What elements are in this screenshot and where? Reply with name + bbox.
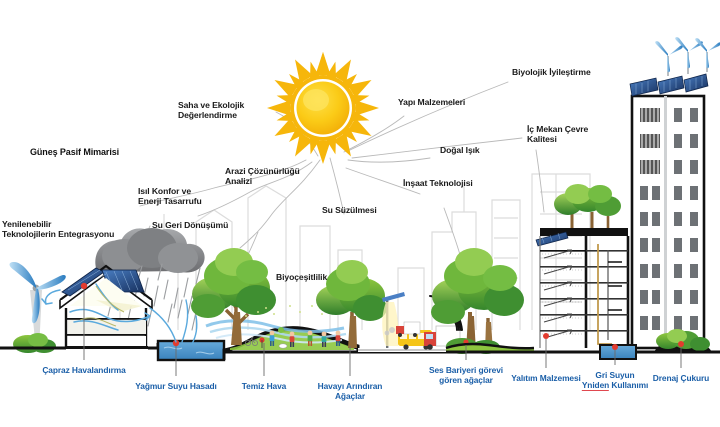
tower-louvre-windows — [640, 108, 660, 174]
label-dogal-isik: Doğal Işık — [440, 145, 480, 155]
spellcheck-underline: Yniden — [582, 380, 609, 391]
label-temiz-hava: Temiz Hava — [242, 382, 286, 392]
residential-tower — [630, 37, 720, 348]
label-saha-ve-ekolojik-degerlendirme: Saha ve Ekolojik Değerlendirme — [178, 100, 244, 120]
label-su-geri-donusumu: Su Geri Dönüşümü — [152, 220, 228, 230]
label-arazi-cozunurlugu-analizi: Arazi Çözünürlüğü Analizi — [225, 166, 300, 186]
rooftop-trees — [554, 184, 621, 228]
label-su-suzulmesi: Su Süzülmesi — [322, 205, 377, 215]
label-yalitim-malzemesi: Yalıtım Malzemesi — [511, 374, 581, 384]
label-drenaj-cukuru: Drenaj Çukuru — [653, 374, 709, 384]
label-gunes-pasif-mimarisi: Güneş Pasif Mimarisi — [30, 147, 119, 158]
label-havayi-arindiran-agaclar: Havayı Arındıran Ağaçlar — [318, 382, 383, 402]
label-yagmur-suyu-hasadi: Yağmur Suyu Hasadı — [135, 382, 217, 392]
greywater-tank — [600, 344, 636, 359]
label-gri-suyun-yniden-kullanimi: Gri SuyunYniden Kullanımı — [582, 371, 648, 391]
greywater-pipe — [598, 244, 612, 344]
label-isil-konfor-ve-enerji-tasarrufu: Isıl Konfor ve Enerji Tasarrufu — [138, 186, 202, 206]
label-biyolojik-iyilestirme: Biyolojik İyileştirme — [512, 67, 591, 77]
label-capraz-havalandirma: Çapraz Havalandırma — [42, 366, 125, 376]
label-ic-mekan-cevre-kalitesi: İç Mekan Çevre Kalitesi — [527, 124, 588, 144]
label-yapi-malzemeleri: Yapı Malzemeleri — [398, 97, 465, 107]
roof-wind-turbines — [655, 37, 720, 76]
label-biyocesitlilik: Biyoçeşitlilik — [276, 272, 327, 282]
label-ses-bariyeri-goren-agaclar: Ses Bariyeri görevi gören ağaçlar — [429, 366, 503, 386]
label-insaat-teknolojisi: İnşaat Teknolojisi — [403, 178, 473, 188]
label-yenilenebilir-teknolojilerin-entegrasyonu: Yenilenebilir Teknolojilerin Entegrasyon… — [2, 219, 114, 239]
wind-turbine — [10, 262, 66, 353]
sun-with-rays — [267, 52, 379, 164]
green-roof-office-building — [536, 184, 628, 348]
roof-solar-array — [630, 74, 708, 96]
infographic-canvas: Güneş Pasif MimarisiYenilenebilir Teknol… — [0, 0, 720, 427]
